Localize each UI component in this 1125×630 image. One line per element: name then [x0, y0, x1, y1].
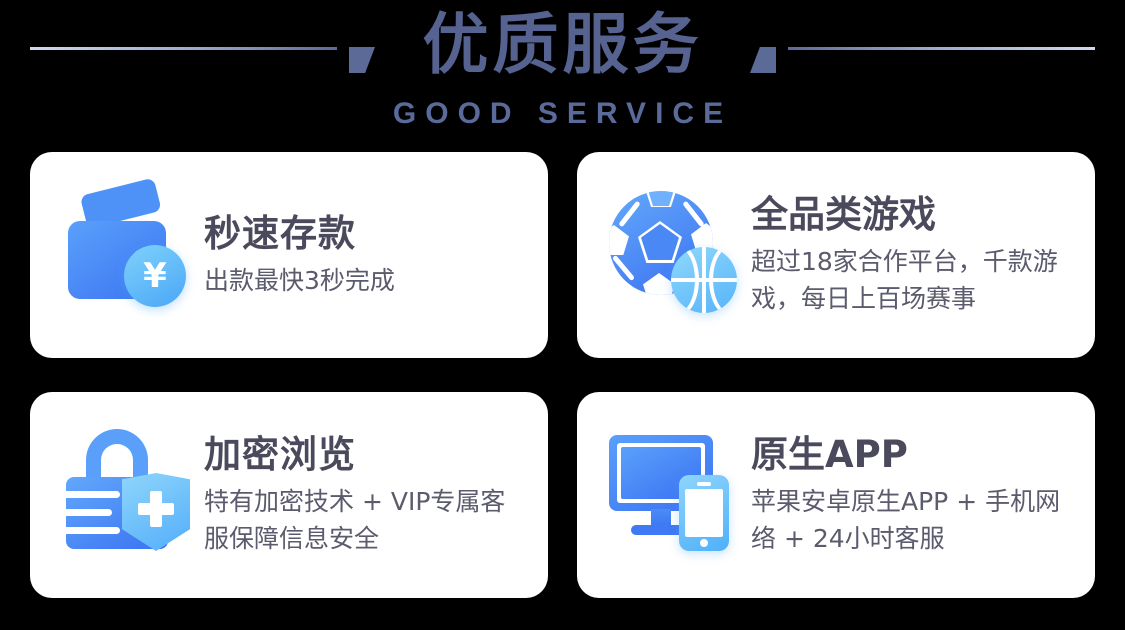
page-subtitle: GOOD SERVICE: [0, 96, 1125, 132]
feature-card-description: 苹果安卓原生APP + 手机网络 + 24小时客服: [751, 483, 1073, 557]
feature-card-text: 原生APP 苹果安卓原生APP + 手机网络 + 24小时客服: [751, 433, 1073, 557]
feature-card-text: 全品类游戏 超过18家合作平台，千款游戏，每日上百场赛事: [751, 193, 1073, 317]
feature-card-title: 加密浏览: [204, 433, 526, 477]
feature-card-description: 超过18家合作平台，千款游戏，每日上百场赛事: [751, 243, 1073, 317]
feature-card-grid: ¥ 秒速存款 出款最快3秒完成: [30, 152, 1095, 598]
feature-card-text: 秒速存款 出款最快3秒完成: [204, 212, 526, 299]
feature-card-encrypted-browsing[interactable]: 加密浏览 特有加密技术 + VIP专属客服保障信息安全: [30, 392, 548, 598]
feature-card-title: 秒速存款: [204, 212, 526, 256]
feature-card-native-app[interactable]: 原生APP 苹果安卓原生APP + 手机网络 + 24小时客服: [577, 392, 1095, 598]
feature-card-title: 原生APP: [751, 433, 1073, 477]
feature-card-all-games[interactable]: 全品类游戏 超过18家合作平台，千款游戏，每日上百场赛事: [577, 152, 1095, 358]
page-title: 优质服务: [0, 8, 1125, 82]
feature-card-text: 加密浏览 特有加密技术 + VIP专属客服保障信息安全: [204, 433, 526, 557]
monitor-phone-icon: [605, 425, 745, 565]
feature-card-title: 全品类游戏: [751, 193, 1073, 237]
promo-banner: 优质服务 GOOD SERVICE ¥ 秒速存款 出款最快3秒完成: [0, 0, 1125, 630]
feature-card-description: 特有加密技术 + VIP专属客服保障信息安全: [204, 483, 526, 557]
banner-header: 优质服务 GOOD SERVICE: [0, 0, 1125, 145]
feature-card-description: 出款最快3秒完成: [204, 262, 526, 299]
smartphone-icon: [679, 475, 729, 551]
yen-coin-icon: ¥: [124, 245, 186, 307]
lock-shield-icon: [58, 425, 198, 565]
soccer-basketball-icon: [605, 185, 745, 325]
yen-symbol: ¥: [124, 245, 186, 307]
wallet-yen-icon: ¥: [58, 185, 198, 325]
cross-icon-bar: [138, 503, 174, 515]
feature-card-instant-deposit[interactable]: ¥ 秒速存款 出款最快3秒完成: [30, 152, 548, 358]
basketball-icon: [671, 247, 737, 313]
